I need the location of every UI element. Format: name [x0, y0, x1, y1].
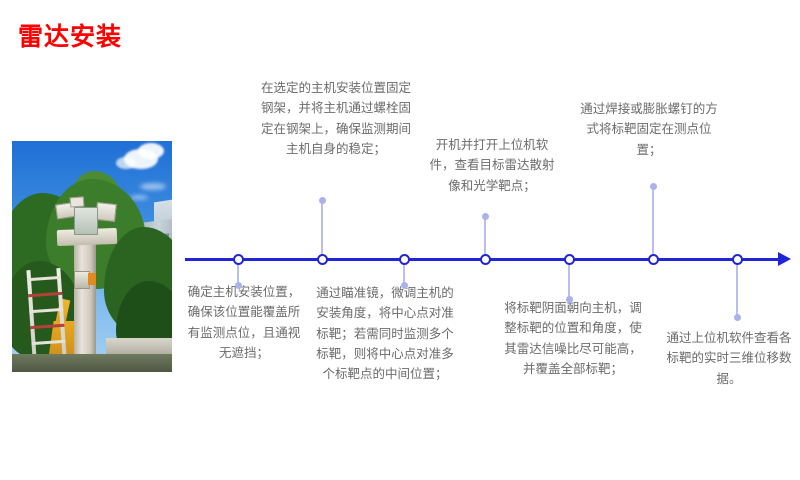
radar-installation-photo [12, 141, 172, 372]
timeline-node-2[interactable] [317, 254, 328, 265]
radar-antenna-panel [95, 202, 117, 222]
step-caption-2: 在选定的主机安装位置固定钢架，并将主机通过螺栓固定在钢架上，确保监测期间主机自身… [256, 78, 416, 159]
timeline-node-7[interactable] [732, 254, 743, 265]
radar-host-unit [74, 207, 98, 235]
timeline-node-5[interactable] [564, 254, 575, 265]
timeline-node-6[interactable] [648, 254, 659, 265]
step-caption-5: 将标靶阴面朝向主机，调整标靶的位置和角度，使其雷达信噪比尽可能高，并覆盖全部标靶… [503, 298, 643, 379]
timeline-connector-dot-7 [734, 314, 741, 321]
timeline-node-4[interactable] [480, 254, 491, 265]
equipment-box-orange [88, 273, 96, 285]
slide-canvas: 雷达安装 [0, 0, 800, 480]
timeline-node-1[interactable] [233, 254, 244, 265]
timeline-connector-4 [484, 217, 486, 259]
radar-antenna-panel [70, 197, 85, 208]
cloud-icon [138, 143, 164, 159]
timeline-node-3[interactable] [399, 254, 410, 265]
timeline-connector-dot-3 [401, 282, 408, 289]
step-caption-1: 确定主机安装位置，确保该位置能覆盖所有监测点位，且通视无遮挡； [186, 282, 302, 363]
timeline-connector-dot-4 [482, 213, 489, 220]
timeline-connector-dot-2 [319, 197, 326, 204]
step-caption-4: 开机并打开上位机软件，查看目标雷达散射像和光学靶点； [428, 135, 556, 196]
timeline-connector-dot-1 [235, 282, 242, 289]
ground [12, 354, 172, 372]
timeline-connector-5 [568, 259, 570, 299]
step-caption-3: 通过瞄准镜，微调主机的安装角度，将中心点对准标靶；若需同时监测多个标靶，则将中心… [313, 283, 457, 384]
timeline-connector-dot-5 [566, 296, 573, 303]
cloud-icon [140, 183, 166, 190]
timeline-arrow-icon [778, 252, 791, 266]
timeline-connector-6 [652, 187, 654, 259]
step-caption-6: 通过焊接或膨胀螺钉的方式将标靶固定在测点位置； [578, 99, 720, 160]
cloud-icon [116, 157, 136, 169]
concrete-pole [74, 241, 96, 372]
step-caption-7: 通过上位机软件查看各标靶的实时三维位移数据。 [662, 328, 796, 389]
page-title: 雷达安装 [18, 24, 122, 52]
timeline-connector-2 [321, 201, 323, 259]
timeline-connector-dot-6 [650, 183, 657, 190]
timeline-connector-7 [736, 259, 738, 317]
